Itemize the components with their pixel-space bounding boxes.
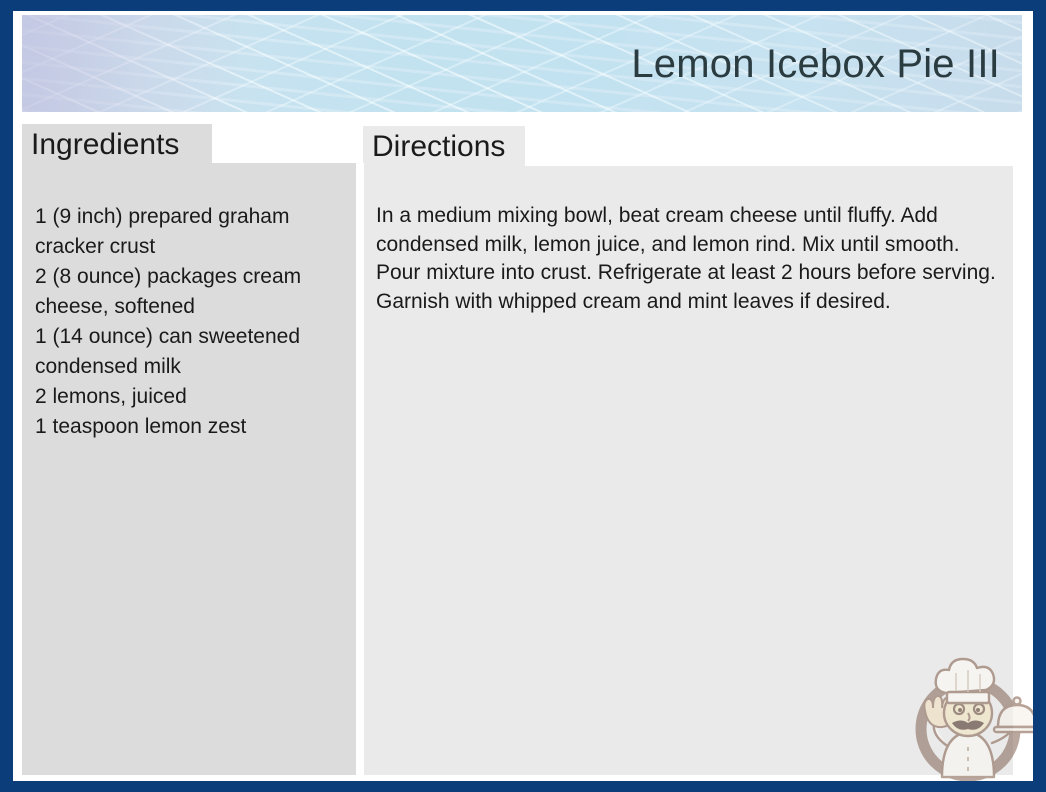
recipe-card: Lemon Icebox Pie III [0,0,1046,792]
panel-gutter [356,163,364,775]
ingredients-list: 1 (9 inch) prepared graham cracker crust… [35,202,345,442]
title-banner: Lemon Icebox Pie III [22,15,1022,112]
tab-directions[interactable]: Directions [363,126,525,168]
tab-ingredients-label: Ingredients [31,128,179,162]
directions-panel: In a medium mixing bowl, beat cream chee… [363,166,1013,775]
recipe-page: Lemon Icebox Pie III [13,11,1033,781]
tab-ingredients[interactable]: Ingredients [22,124,212,166]
ingredients-panel: 1 (9 inch) prepared graham cracker crust… [22,163,356,775]
page-title: Lemon Icebox Pie III [631,44,1000,84]
directions-text: In a medium mixing bowl, beat cream chee… [376,202,1004,316]
tab-directions-label: Directions [372,130,505,164]
